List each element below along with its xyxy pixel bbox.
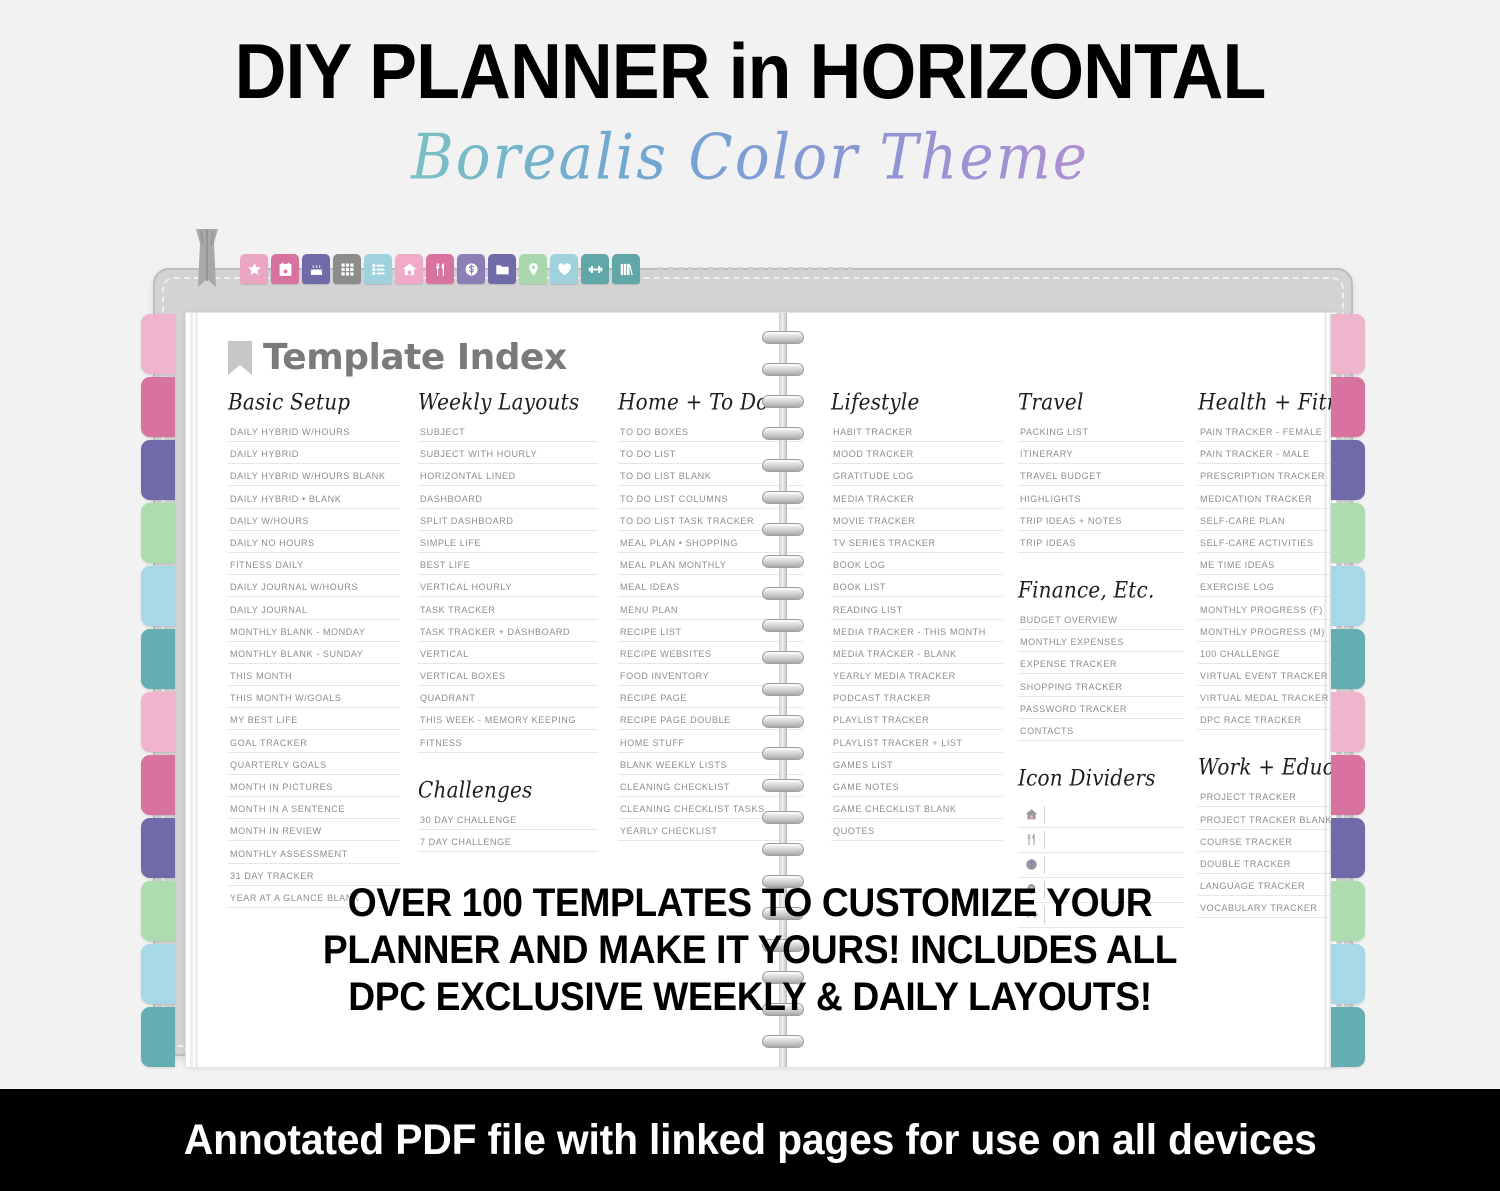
side-tab-left-9[interactable]	[141, 818, 175, 878]
fitness-icon	[588, 262, 603, 277]
page-subtitle: Borealis Color Theme	[0, 120, 1500, 193]
template-item[interactable]: SHOPPING TRACKER	[1018, 682, 1183, 697]
template-item[interactable]: 30 DAY CHALLENGE	[418, 815, 598, 830]
top-tab-cake[interactable]	[302, 254, 330, 284]
top-tab-home[interactable]	[395, 254, 423, 284]
template-item[interactable]: 100 CHALLENGE	[1198, 649, 1337, 664]
heart-icon	[557, 262, 572, 277]
fitness-icon-wrap	[1018, 908, 1044, 921]
star-icon	[247, 262, 262, 277]
home-icon	[1025, 808, 1038, 821]
template-item[interactable]: PRESCRIPTION TRACKER	[1198, 471, 1337, 486]
side-tab-left-4[interactable]	[141, 503, 175, 563]
template-item[interactable]: BOOK LIST	[831, 582, 1003, 597]
pin-icon-wrap	[1018, 883, 1044, 896]
template-item[interactable]: GAME CHECKLIST BLANK	[831, 804, 1003, 819]
template-item[interactable]: TASK TRACKER + DASHBOARD	[418, 627, 598, 642]
template-item[interactable]: QUOTES	[831, 826, 1003, 841]
template-item[interactable]: COURSE TRACKER	[1198, 837, 1337, 852]
template-item[interactable]: PASSWORD TRACKER	[1018, 704, 1183, 719]
category-title: Lifestyle	[831, 388, 1003, 415]
category-title: Icon Dividers	[1018, 764, 1183, 791]
side-tab-left-6[interactable]	[141, 629, 175, 689]
template-item[interactable]: MOVIE TRACKER	[831, 516, 1003, 531]
utensils-icon-wrap	[1018, 833, 1044, 846]
spiral-ring	[762, 363, 804, 376]
template-item[interactable]: YEARLY MEDIA TRACKER	[831, 671, 1003, 686]
spiral-ring	[762, 747, 804, 760]
side-tab-right-6[interactable]	[1331, 629, 1365, 689]
tab-row-dashes	[658, 267, 854, 273]
template-item[interactable]: PAIN TRACKER - FEMALE	[1198, 427, 1337, 442]
icon-divider-row[interactable]	[1018, 853, 1183, 878]
template-item[interactable]: DAILY HYBRID • BLANK	[228, 494, 400, 509]
right-side-tabs[interactable]	[1331, 314, 1365, 1070]
spiral-ring	[762, 811, 804, 824]
side-tab-right-5[interactable]	[1331, 566, 1365, 626]
side-tab-right-12[interactable]	[1331, 1007, 1365, 1067]
index-column-basic-setup: Basic SetupDAILY HYBRID W/HOURSDAILY HYB…	[228, 391, 400, 915]
template-item[interactable]: MOOD TRACKER	[831, 449, 1003, 464]
side-tab-right-8[interactable]	[1331, 755, 1365, 815]
template-item[interactable]: TRIP IDEAS + NOTES	[1018, 516, 1183, 531]
side-tab-right-3[interactable]	[1331, 440, 1365, 500]
top-tab-fitness[interactable]	[581, 254, 609, 284]
template-item[interactable]: MONTHLY EXPENSES	[1018, 637, 1183, 652]
template-item[interactable]: PLAYLIST TRACKER	[831, 715, 1003, 730]
fitness-icon	[1025, 908, 1038, 921]
list-icon	[371, 262, 386, 277]
side-tab-left-8[interactable]	[141, 755, 175, 815]
template-item[interactable]: MEDIA TRACKER - THIS MONTH	[831, 627, 1003, 642]
spiral-ring	[762, 651, 804, 664]
top-tab-books[interactable]	[612, 254, 640, 284]
template-item[interactable]: FITNESS	[418, 738, 598, 753]
template-item[interactable]: EXPENSE TRACKER	[1018, 659, 1183, 674]
template-item[interactable]: PROJECT TRACKER	[1198, 792, 1337, 807]
page-edge	[190, 313, 193, 1067]
template-item[interactable]: GOAL TRACKER	[228, 738, 400, 753]
side-tab-left-1[interactable]	[141, 314, 175, 374]
template-item[interactable]: PODCAST TRACKER	[831, 693, 1003, 708]
template-item[interactable]: DAILY JOURNAL W/HOURS	[228, 582, 400, 597]
category-title: Challenges	[418, 776, 598, 803]
dollar-icon	[1025, 858, 1038, 871]
index-column-weekly-layouts: Weekly LayoutsSUBJECTSUBJECT WITH HOURLY…	[418, 391, 598, 859]
template-item[interactable]: VERTICAL	[418, 649, 598, 664]
folder-icon	[495, 262, 510, 277]
side-tab-right-10[interactable]	[1331, 881, 1365, 941]
template-item[interactable]: SUBJECT WITH HOURLY	[418, 449, 598, 464]
side-tab-right-4[interactable]	[1331, 503, 1365, 563]
spiral-ring	[762, 875, 804, 888]
spiral-ring	[762, 587, 804, 600]
template-item[interactable]: READING LIST	[831, 605, 1003, 620]
template-item[interactable]: VERTICAL BOXES	[418, 671, 598, 686]
footer-text: Annotated PDF file with linked pages for…	[184, 1116, 1317, 1165]
divider-line	[1044, 881, 1183, 899]
pin-icon	[1025, 883, 1038, 896]
template-item[interactable]: ME TIME IDEAS	[1198, 560, 1337, 575]
template-item[interactable]: SELF-CARE PLAN	[1198, 516, 1337, 531]
template-item[interactable]: GRATITUDE LOG	[831, 471, 1003, 486]
side-tab-right-1[interactable]	[1331, 314, 1365, 374]
top-tab-heart[interactable]	[550, 254, 578, 284]
spiral-ring	[762, 843, 804, 856]
divider-line	[1044, 831, 1183, 849]
template-item[interactable]: MONTH IN PICTURES	[228, 782, 400, 797]
index-title: Template Index	[263, 337, 567, 378]
template-item[interactable]: MONTHLY PROGRESS (F)	[1198, 605, 1337, 620]
planner-mockup: Template Index Basic SetupDAILY HYBRID W…	[148, 238, 1358, 1058]
icon-divider-row[interactable]	[1018, 803, 1183, 828]
template-item[interactable]: VOCABULARY TRACKER	[1198, 903, 1337, 918]
books-icon	[619, 262, 634, 277]
pin-icon	[526, 262, 541, 277]
template-item[interactable]: DAILY W/HOURS	[228, 516, 400, 531]
template-item[interactable]: 7 DAY CHALLENGE	[418, 837, 598, 852]
template-item[interactable]: DAILY NO HOURS	[228, 538, 400, 553]
template-item[interactable]: HORIZONTAL LINED	[418, 471, 598, 486]
top-tab-calendar[interactable]	[271, 254, 299, 284]
template-item[interactable]: CONTACTS	[1018, 726, 1183, 741]
spiral-ring	[762, 971, 804, 984]
dollar-icon	[464, 262, 479, 277]
template-item[interactable]: TRAVEL BUDGET	[1018, 471, 1183, 486]
template-item[interactable]: SUBJECT	[418, 427, 598, 442]
utensils-icon	[1025, 833, 1038, 846]
side-tab-right-7[interactable]	[1331, 692, 1365, 752]
template-item[interactable]: DASHBOARD	[418, 494, 598, 509]
utensils-icon	[433, 262, 448, 277]
category-title: Finance, Etc.	[1018, 576, 1183, 603]
template-item[interactable]: MONTHLY BLANK - MONDAY	[228, 627, 400, 642]
category-title: Weekly Layouts	[418, 388, 598, 415]
template-item[interactable]: TRIP IDEAS	[1018, 538, 1183, 553]
spiral-ring	[762, 779, 804, 792]
page-edge	[195, 313, 198, 1067]
template-item[interactable]: BOOK LOG	[831, 560, 1003, 575]
template-item[interactable]: VIRTUAL EVENT TRACKER	[1198, 671, 1337, 686]
template-item[interactable]: MEDIA TRACKER - BLANK	[831, 649, 1003, 664]
template-item[interactable]: DPC RACE TRACKER	[1198, 715, 1337, 730]
grid-icon	[340, 262, 355, 277]
template-item[interactable]: PACKING LIST	[1018, 427, 1183, 442]
template-item[interactable]: GAMES LIST	[831, 760, 1003, 775]
template-item[interactable]: VIRTUAL MEDAL TRACKER	[1198, 693, 1337, 708]
top-tab-pin[interactable]	[519, 254, 547, 284]
template-item[interactable]: DAILY HYBRID W/HOURS	[228, 427, 400, 442]
side-tab-left-2[interactable]	[141, 377, 175, 437]
spiral-ring	[762, 939, 804, 952]
template-item[interactable]: MONTHLY BLANK - SUNDAY	[228, 649, 400, 664]
category-title: Travel	[1018, 388, 1183, 415]
home-icon-wrap	[1018, 808, 1044, 821]
template-item[interactable]: THIS MONTH W/GOALS	[228, 693, 400, 708]
icon-divider-row[interactable]	[1018, 878, 1183, 903]
spiral-ring	[762, 523, 804, 536]
side-tab-left-12[interactable]	[141, 1007, 175, 1067]
page-title: DIY PLANNER in HORIZONTAL	[60, 26, 1440, 117]
template-item[interactable]: ITINERARY	[1018, 449, 1183, 464]
index-column-health-work: Health + FitnessPAIN TRACKER - FEMALEPAI…	[1198, 391, 1337, 926]
side-tab-right-9[interactable]	[1331, 818, 1365, 878]
spiral-ring	[762, 715, 804, 728]
top-tab-list[interactable]	[364, 254, 392, 284]
header: DIY PLANNER in HORIZONTAL Borealis Color…	[0, 0, 1500, 222]
template-item[interactable]: MEDIA TRACKER	[831, 494, 1003, 509]
icon-divider-row[interactable]	[1018, 828, 1183, 853]
template-item[interactable]: VERTICAL HOURLY	[418, 582, 598, 597]
category-title: Work + Education	[1198, 754, 1337, 781]
divider-line	[1044, 856, 1183, 874]
template-item[interactable]: EXERCISE LOG	[1198, 582, 1337, 597]
bookmark-icon	[228, 341, 252, 375]
poster-root: DIY PLANNER in HORIZONTAL Borealis Color…	[0, 0, 1500, 1191]
index-column-lifestyle: LifestyleHABIT TRACKERMOOD TRACKERGRATIT…	[831, 391, 1003, 849]
template-item[interactable]: SELF-CARE ACTIVITIES	[1198, 538, 1337, 553]
category-title: Basic Setup	[228, 388, 400, 415]
template-item[interactable]: MONTHLY PROGRESS (M)	[1198, 627, 1337, 642]
side-tab-left-7[interactable]	[141, 692, 175, 752]
template-item[interactable]: TV SERIES TRACKER	[831, 538, 1003, 553]
spiral-ring	[762, 395, 804, 408]
side-tab-left-11[interactable]	[141, 944, 175, 1004]
template-item[interactable]: LANGUAGE TRACKER	[1198, 881, 1337, 896]
template-item[interactable]: MONTH IN A SENTENCE	[228, 804, 400, 819]
icon-divider-row[interactable]	[1018, 903, 1183, 928]
spiral-binding	[758, 313, 808, 1068]
template-item[interactable]: QUARTERLY GOALS	[228, 760, 400, 775]
template-item[interactable]: MONTH IN REVIEW	[228, 826, 400, 841]
template-item[interactable]: PAIN TRACKER - MALE	[1198, 449, 1337, 464]
template-item[interactable]: MEDICATION TRACKER	[1198, 494, 1337, 509]
home-icon	[402, 262, 417, 277]
spiral-ring	[762, 491, 804, 504]
dollar-icon-wrap	[1018, 858, 1044, 871]
side-tab-right-2[interactable]	[1331, 377, 1365, 437]
template-item[interactable]: DOUBLE TRACKER	[1198, 859, 1337, 874]
spiral-ring	[762, 1003, 804, 1016]
top-tab-row[interactable]	[240, 254, 640, 284]
template-item[interactable]: HIGHLIGHTS	[1018, 494, 1183, 509]
template-item[interactable]: 31 DAY TRACKER	[228, 871, 400, 886]
divider-line	[1044, 806, 1183, 824]
template-item[interactable]: DAILY HYBRID W/HOURS BLANK	[228, 471, 400, 486]
top-tab-folder[interactable]	[488, 254, 516, 284]
template-item[interactable]: MONTHLY ASSESSMENT	[228, 849, 400, 864]
template-item[interactable]: SIMPLE LIFE	[418, 538, 598, 553]
index-header: Template Index	[228, 337, 567, 378]
template-item[interactable]: YEAR AT A GLANCE BLANK	[228, 893, 400, 908]
template-item[interactable]: GAME NOTES	[831, 782, 1003, 797]
calendar-icon	[278, 262, 293, 277]
spiral-ring	[762, 907, 804, 920]
cake-icon	[309, 262, 324, 277]
top-tab-star[interactable]	[240, 254, 268, 284]
template-item[interactable]: THIS MONTH	[228, 671, 400, 686]
template-item[interactable]: HABIT TRACKER	[831, 427, 1003, 442]
template-item[interactable]: PROJECT TRACKER BLANK	[1198, 815, 1337, 830]
spiral-ring	[762, 331, 804, 344]
template-item[interactable]: PLAYLIST TRACKER + LIST	[831, 738, 1003, 753]
spiral-ring	[762, 619, 804, 632]
planner-pages: Template Index Basic SetupDAILY HYBRID W…	[185, 312, 1337, 1068]
template-item[interactable]: SPLIT DASHBOARD	[418, 516, 598, 531]
side-tab-left-3[interactable]	[141, 440, 175, 500]
side-tab-left-5[interactable]	[141, 566, 175, 626]
top-tab-grid[interactable]	[333, 254, 361, 284]
left-side-tabs[interactable]	[141, 314, 175, 1070]
bookmark-tassel-icon	[194, 229, 220, 287]
category-title: Health + Fitness	[1198, 388, 1337, 415]
template-item[interactable]: BEST LIFE	[418, 560, 598, 575]
template-item[interactable]: DAILY JOURNAL	[228, 605, 400, 620]
top-tab-utensils[interactable]	[426, 254, 454, 284]
template-item[interactable]: THIS WEEK - MEMORY KEEPING	[418, 715, 598, 730]
template-item[interactable]: TASK TRACKER	[418, 605, 598, 620]
template-item[interactable]: QUADRANT	[418, 693, 598, 708]
template-item[interactable]: DAILY HYBRID	[228, 449, 400, 464]
spiral-ring	[762, 1035, 804, 1048]
template-item[interactable]: FITNESS DAILY	[228, 560, 400, 575]
spiral-ring	[762, 683, 804, 696]
spiral-ring	[762, 459, 804, 472]
spiral-ring	[762, 427, 804, 440]
top-tab-dollar[interactable]	[457, 254, 485, 284]
side-tab-right-11[interactable]	[1331, 944, 1365, 1004]
divider-line	[1044, 906, 1183, 924]
index-column-travel-finance: TravelPACKING LISTITINERARYTRAVEL BUDGET…	[1018, 391, 1183, 928]
template-item[interactable]: MY BEST LIFE	[228, 715, 400, 730]
planner-cover: Template Index Basic SetupDAILY HYBRID W…	[153, 268, 1353, 1056]
spiral-ring	[762, 555, 804, 568]
side-tab-left-10[interactable]	[141, 881, 175, 941]
template-item[interactable]: BUDGET OVERVIEW	[1018, 615, 1183, 630]
footer-banner: Annotated PDF file with linked pages for…	[0, 1089, 1500, 1191]
